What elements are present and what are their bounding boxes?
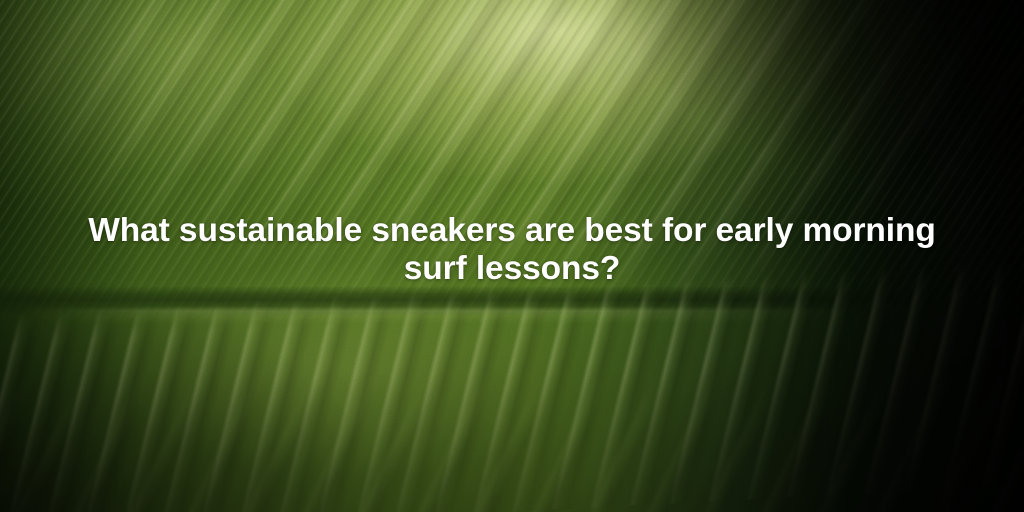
page-title: What sustainable sneakers are best for e… — [0, 212, 1024, 288]
headline-block: What sustainable sneakers are best for e… — [0, 212, 1024, 288]
hero-banner: What sustainable sneakers are best for e… — [0, 0, 1024, 512]
